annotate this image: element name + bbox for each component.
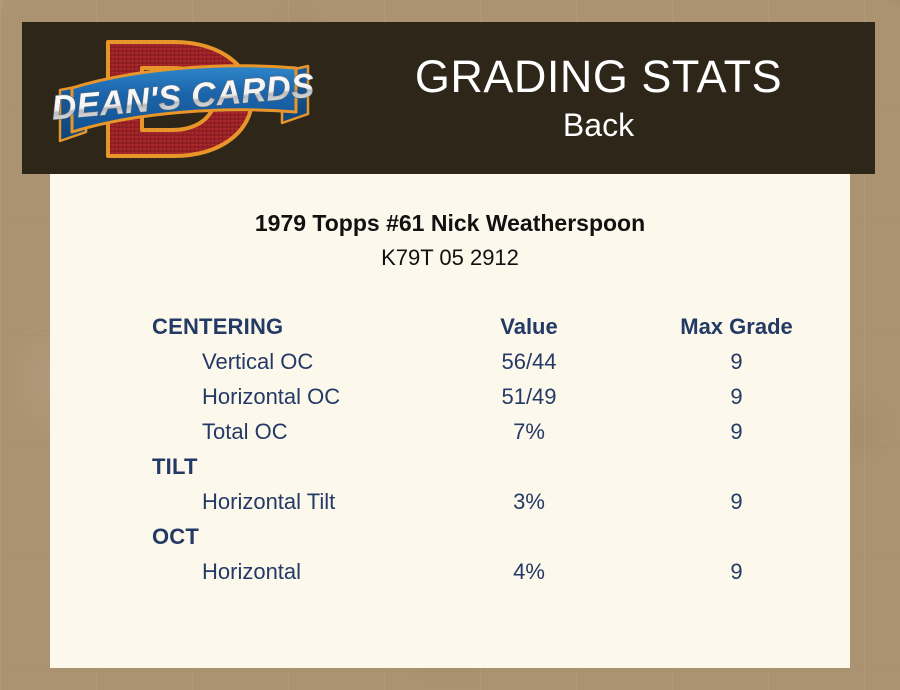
table-row: Horizontal4%9 <box>50 554 850 589</box>
stats-section-grade-spacer <box>625 449 850 484</box>
table-row: Vertical OC56/449 <box>50 344 850 379</box>
stat-label: Horizontal OC <box>50 379 445 414</box>
content-panel: 1979 Topps #61 Nick Weatherspoon K79T 05… <box>50 174 850 668</box>
card-lot-code: K79T 05 2912 <box>50 243 850 273</box>
stats-section-grade-spacer <box>625 519 850 554</box>
table-row: Horizontal Tilt3%9 <box>50 484 850 519</box>
card-title: 1979 Topps #61 Nick Weatherspoon <box>50 208 850 238</box>
card-identity: 1979 Topps #61 Nick Weatherspoon K79T 05… <box>50 174 850 273</box>
stats-table-head: CENTERING Value Max Grade <box>50 309 850 344</box>
stats-section-label: TILT <box>50 449 445 484</box>
header-band: DEAN'S CARDS GRADING STATS Back <box>22 22 875 174</box>
stat-value: 56/44 <box>445 344 625 379</box>
deans-cards-logo[interactable]: DEAN'S CARDS <box>46 28 318 170</box>
grading-stats-table: CENTERING Value Max Grade Vertical OC56/… <box>50 309 850 589</box>
table-row: Horizontal OC51/499 <box>50 379 850 414</box>
stats-section-row: TILT <box>50 449 850 484</box>
stat-label: Vertical OC <box>50 344 445 379</box>
page-title: GRADING STATS <box>415 51 782 103</box>
stats-section-row: OCT <box>50 519 850 554</box>
stat-max-grade: 9 <box>625 554 850 589</box>
stat-label: Horizontal <box>50 554 445 589</box>
column-header-max-grade: Max Grade <box>625 309 850 344</box>
stat-max-grade: 9 <box>625 484 850 519</box>
header-titles: GRADING STATS Back <box>322 22 875 174</box>
page-subtitle: Back <box>563 105 634 145</box>
column-header-section: CENTERING <box>50 309 445 344</box>
table-row: Total OC7%9 <box>50 414 850 449</box>
stat-label: Total OC <box>50 414 445 449</box>
stat-max-grade: 9 <box>625 414 850 449</box>
stats-table-body: Vertical OC56/449Horizontal OC51/499Tota… <box>50 344 850 589</box>
stat-max-grade: 9 <box>625 344 850 379</box>
column-header-value: Value <box>445 309 625 344</box>
stat-value: 7% <box>445 414 625 449</box>
stat-label: Horizontal Tilt <box>50 484 445 519</box>
table-header-row: CENTERING Value Max Grade <box>50 309 850 344</box>
stats-section-value-spacer <box>445 519 625 554</box>
stat-value: 3% <box>445 484 625 519</box>
stats-section-label: OCT <box>50 519 445 554</box>
stat-value: 4% <box>445 554 625 589</box>
stats-section-value-spacer <box>445 449 625 484</box>
stat-max-grade: 9 <box>625 379 850 414</box>
stat-value: 51/49 <box>445 379 625 414</box>
